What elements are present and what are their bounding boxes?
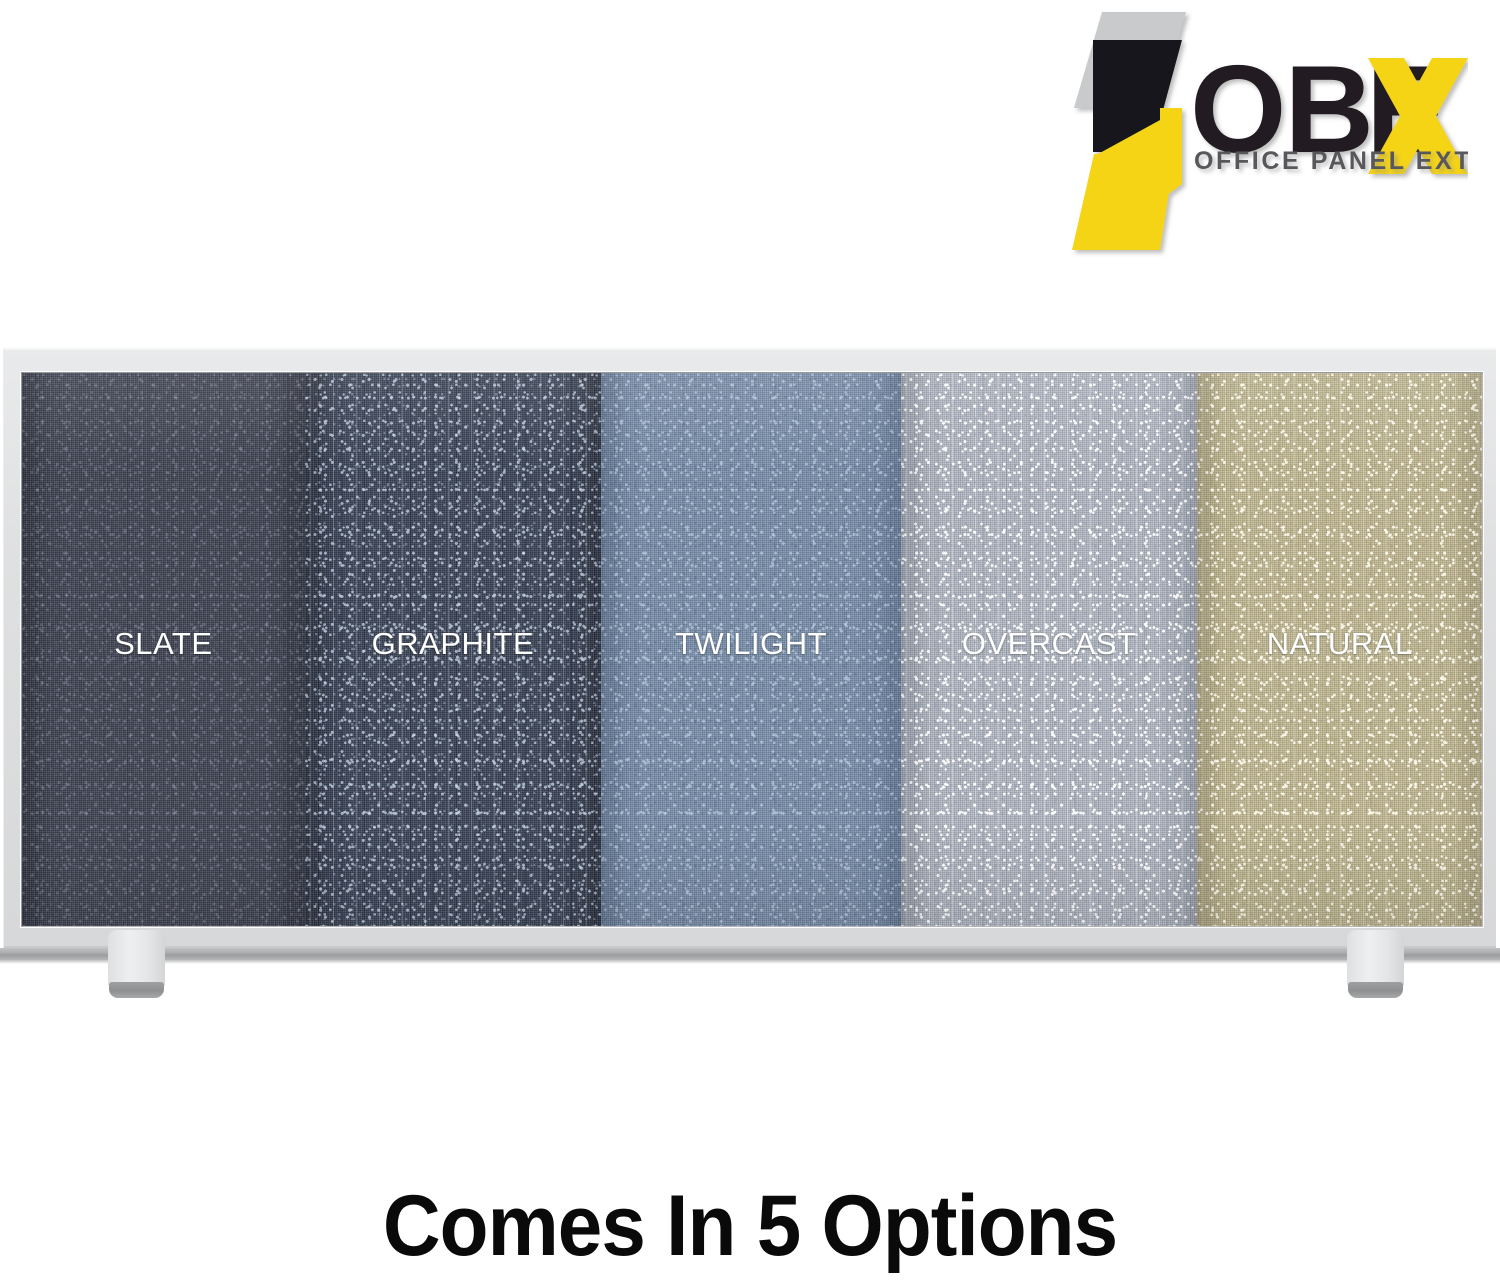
fabric-swatch-overcast[interactable]: OVERCAST <box>901 373 1198 926</box>
obex-tagline: OFFICE PANEL EXTENDERS <box>1194 147 1468 175</box>
panel-foot-left <box>108 930 165 998</box>
fabric-swatch-twilight[interactable]: TWILIGHT <box>601 373 901 926</box>
fabric-window: SLATEGRAPHITETWILIGHTOVERCASTNATURAL <box>21 372 1483 927</box>
fabric-swatch-graphite[interactable]: GRAPHITE <box>305 373 602 926</box>
fabric-label-overcast: OVERCAST <box>962 626 1137 662</box>
obex-mark-icon <box>1072 12 1186 250</box>
panel-bottom-shadow <box>0 960 1500 964</box>
fabric-swatch-slate[interactable]: SLATE <box>22 373 305 926</box>
foot-base <box>1348 982 1403 998</box>
panel-foot-right <box>1347 930 1404 998</box>
foot-base <box>109 982 164 998</box>
caption-comes-in-5-options: Comes In 5 Options <box>53 1176 1448 1276</box>
foot-body <box>1347 930 1404 987</box>
panel-frame: SLATEGRAPHITETWILIGHTOVERCASTNATURAL <box>3 348 1496 948</box>
fabric-swatch-strip: SLATEGRAPHITETWILIGHTOVERCASTNATURAL <box>22 373 1482 926</box>
panel-assembly: SLATEGRAPHITETWILIGHTOVERCASTNATURAL <box>0 348 1500 1008</box>
fabric-label-natural: NATURAL <box>1267 626 1413 662</box>
fabric-label-graphite: GRAPHITE <box>372 626 534 662</box>
fabric-label-slate: SLATE <box>114 626 212 662</box>
panel-bottom-rail <box>0 948 1500 960</box>
fabric-swatch-natural[interactable]: NATURAL <box>1197 373 1482 926</box>
fabric-label-twilight: TWILIGHT <box>675 626 827 662</box>
obex-logo: OB E OFFICE PANEL EXTENDERS <box>1068 4 1468 259</box>
foot-body <box>108 930 165 987</box>
